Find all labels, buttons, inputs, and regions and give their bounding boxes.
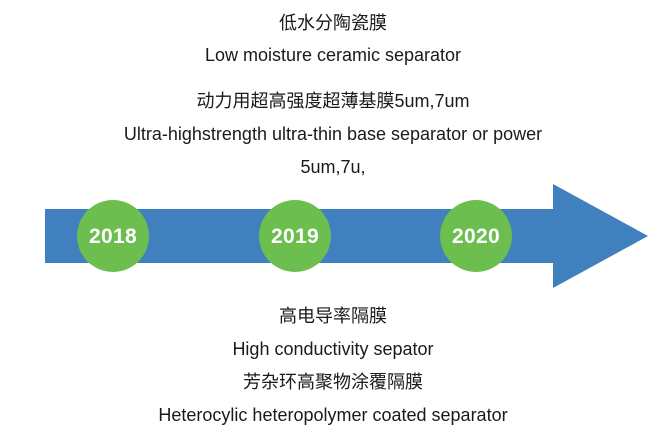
milestone-2020-label: 2020 xyxy=(452,226,500,247)
bottom-annotation-line-1: 高电导率隔膜 xyxy=(0,300,666,333)
top-annotation-group-b: 动力用超高强度超薄基膜5um,7um Ultra-highstrength ul… xyxy=(0,85,666,184)
top-annotation-b-line-2: Ultra-highstrength ultra-thin base separ… xyxy=(0,118,666,151)
bottom-annotation-line-2: High conductivity sepator xyxy=(0,333,666,366)
timeline-diagram: 低水分陶瓷膜 Low moisture ceramic separator 动力… xyxy=(0,0,666,439)
milestone-2018-label: 2018 xyxy=(89,226,137,247)
bottom-annotation-group: 高电导率隔膜 High conductivity sepator 芳杂环高聚物涂… xyxy=(0,300,666,432)
top-annotation-b-line-1: 动力用超高强度超薄基膜5um,7um xyxy=(0,85,666,118)
bottom-annotation-line-4: Heterocylic heteropolymer coated separat… xyxy=(0,399,666,432)
top-annotation-b-line-3: 5um,7u, xyxy=(0,151,666,184)
milestone-2019[interactable]: 2019 xyxy=(259,200,331,272)
milestone-2019-label: 2019 xyxy=(271,226,319,247)
bottom-annotation-line-3: 芳杂环高聚物涂覆隔膜 xyxy=(0,366,666,399)
milestone-2020[interactable]: 2020 xyxy=(440,200,512,272)
top-annotation-a-line-1: 低水分陶瓷膜 xyxy=(0,7,666,39)
milestone-2018[interactable]: 2018 xyxy=(77,200,149,272)
top-annotation-group-a: 低水分陶瓷膜 Low moisture ceramic separator xyxy=(0,7,666,71)
top-annotation-a-line-2: Low moisture ceramic separator xyxy=(0,39,666,71)
